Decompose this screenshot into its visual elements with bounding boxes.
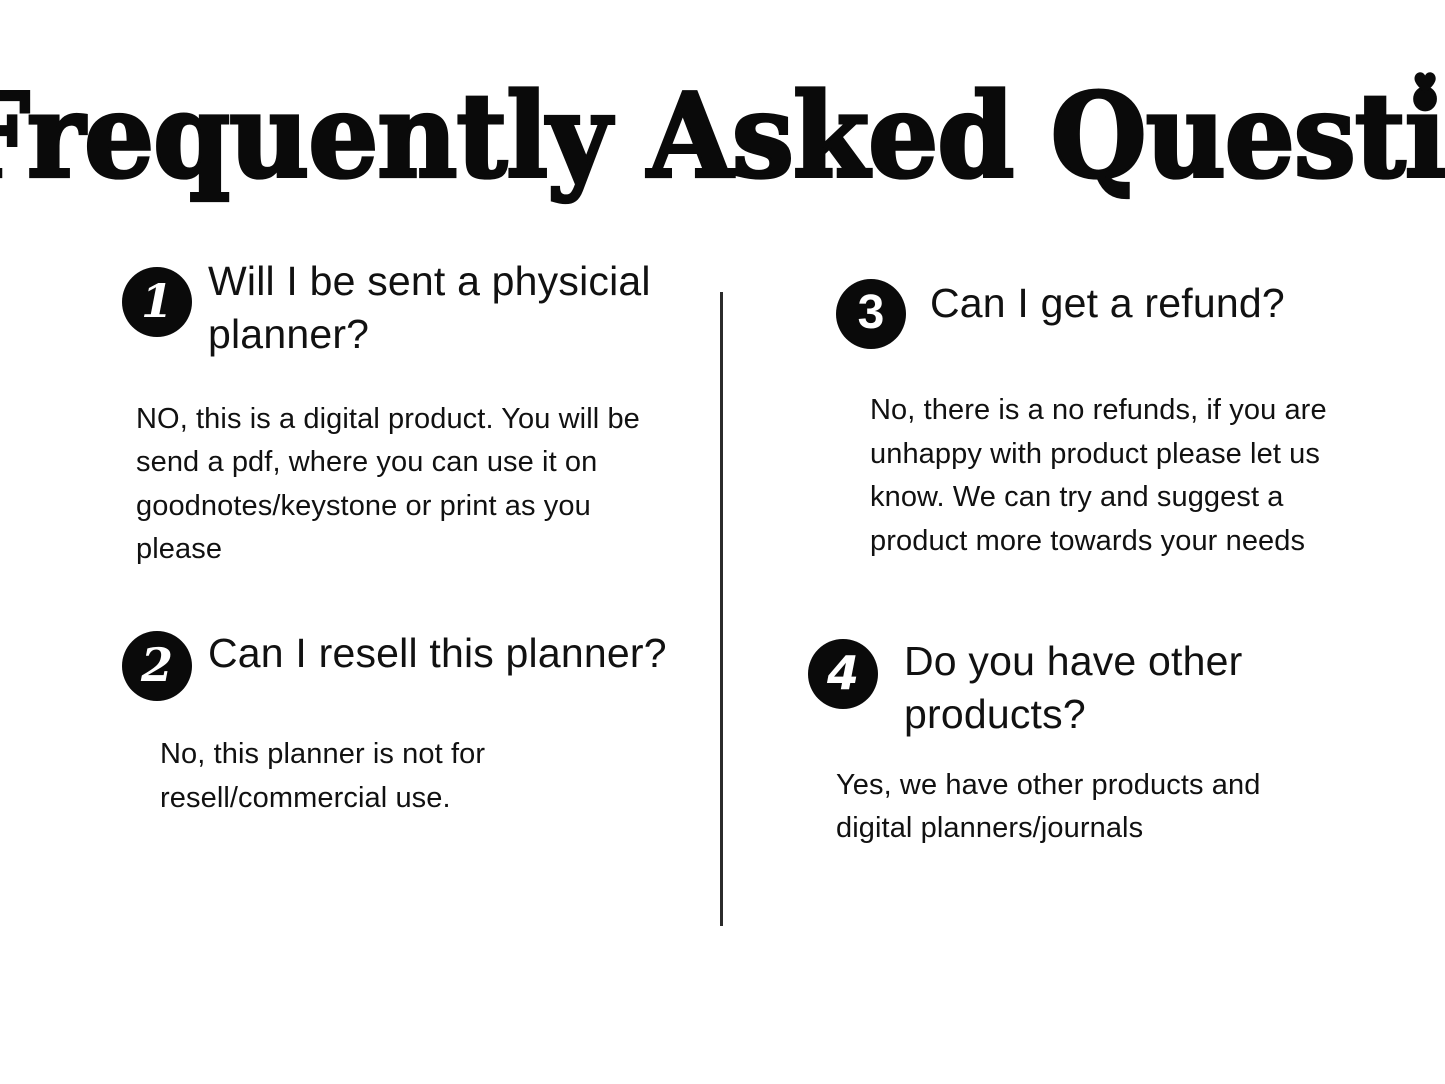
heart-dot-icon [1413, 71, 1436, 93]
faq-question-4: Do you have other products? [904, 635, 1324, 742]
faq-item-2: 2 Can I resell this planner? No, this pl… [122, 627, 712, 820]
faq-question-row-3: 3 Can I get a refund? [836, 277, 1376, 349]
faq-answer-1: NO, this is a digital product. You will … [136, 398, 646, 572]
title-space-2 [1013, 67, 1050, 205]
title-word-asked: Asked [647, 67, 1013, 205]
faq-question-1: Will I be sent a physicial planner? [208, 255, 668, 362]
faq-question-row-4: 4 Do you have other products? [808, 635, 1368, 742]
title-word-quest: Quest [1051, 67, 1405, 205]
faq-answer-3: No, there is a no refunds, if you are un… [870, 389, 1370, 563]
faq-columns: 1 Will I be sent a physicial planner? NO… [0, 255, 1445, 945]
faq-question-row-1: 1 Will I be sent a physicial planner? [122, 255, 702, 362]
faq-question-row-2: 2 Can I resell this planner? [122, 627, 712, 701]
faq-item-1: 1 Will I be sent a physicial planner? NO… [122, 255, 702, 572]
faq-page: Frequently Asked Questions 1 Will I be s… [0, 0, 1445, 1084]
faq-number-badge-1: 1 [122, 267, 192, 337]
page-title-wrapper: Frequently Asked Questions [0, 78, 1445, 182]
faq-question-3: Can I get a refund? [930, 277, 1370, 330]
faq-number-3: 3 [858, 289, 885, 337]
faq-number-2: 2 [141, 642, 173, 688]
title-word-frequently: Frequently [0, 67, 610, 205]
faq-question-2: Can I resell this planner? [208, 627, 708, 680]
title-space-1 [610, 67, 647, 205]
faq-answer-4: Yes, we have other products and digital … [836, 764, 1336, 851]
faq-number-1: 1 [141, 278, 173, 324]
faq-item-4: 4 Do you have other products? Yes, we ha… [808, 635, 1368, 851]
faq-number-4: 4 [827, 650, 859, 696]
page-title: Frequently Asked Questions [0, 78, 1445, 194]
faq-answer-2: No, this planner is not for resell/comme… [160, 733, 600, 820]
faq-number-badge-3: 3 [836, 279, 906, 349]
faq-number-badge-4: 4 [808, 639, 878, 709]
faq-number-badge-2: 2 [122, 631, 192, 701]
faq-item-3: 3 Can I get a refund? No, there is a no … [836, 277, 1376, 563]
title-letter-i-with-heart: i [1405, 78, 1445, 194]
